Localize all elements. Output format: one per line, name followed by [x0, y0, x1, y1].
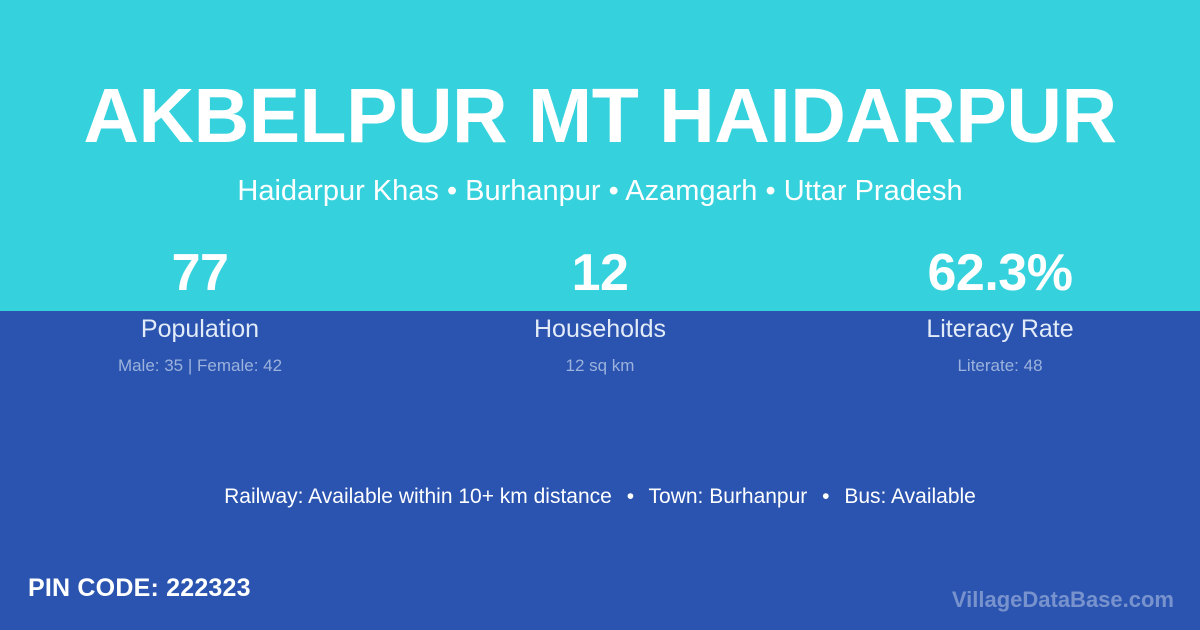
pin-code: PIN CODE: 222323 [28, 576, 251, 601]
stat-households-sub: 12 sq km [400, 357, 800, 374]
stat-households: 12 Households 12 sq km [400, 247, 800, 374]
amenity-separator-1: • [618, 485, 643, 508]
stats-row: 77 Population Male: 35 | Female: 42 12 H… [0, 247, 1200, 374]
breadcrumb: Haidarpur Khas • Burhanpur • Azamgarh • … [0, 177, 1200, 206]
stat-literacy-rate-sub: Literate: 48 [800, 357, 1200, 374]
amenity-town: Town: Burhanpur [649, 485, 808, 508]
stat-literacy-rate-label: Literacy Rate [800, 317, 1200, 342]
stat-households-value: 12 [400, 247, 800, 303]
amenity-railway: Railway: Available within 10+ km distanc… [224, 485, 612, 508]
amenity-bus: Bus: Available [844, 485, 976, 508]
stat-literacy-rate: 62.3% Literacy Rate Literate: 48 [800, 247, 1200, 374]
stat-population-sub: Male: 35 | Female: 42 [0, 357, 400, 374]
card-header: AKBELPUR MT HAIDARPUR Haidarpur Khas • B… [0, 0, 1200, 206]
stat-households-label: Households [400, 317, 800, 342]
page-title: AKBELPUR MT HAIDARPUR [0, 78, 1200, 155]
site-watermark: VillageDataBase.com [952, 589, 1174, 611]
stat-population-value: 77 [0, 247, 400, 303]
village-info-card: AKBELPUR MT HAIDARPUR Haidarpur Khas • B… [0, 0, 1200, 630]
amenity-separator-2: • [813, 485, 838, 508]
amenities-line: Railway: Available within 10+ km distanc… [0, 486, 1200, 507]
stat-population-label: Population [0, 317, 400, 342]
stat-literacy-rate-value: 62.3% [800, 247, 1200, 303]
stat-population: 77 Population Male: 35 | Female: 42 [0, 247, 400, 374]
